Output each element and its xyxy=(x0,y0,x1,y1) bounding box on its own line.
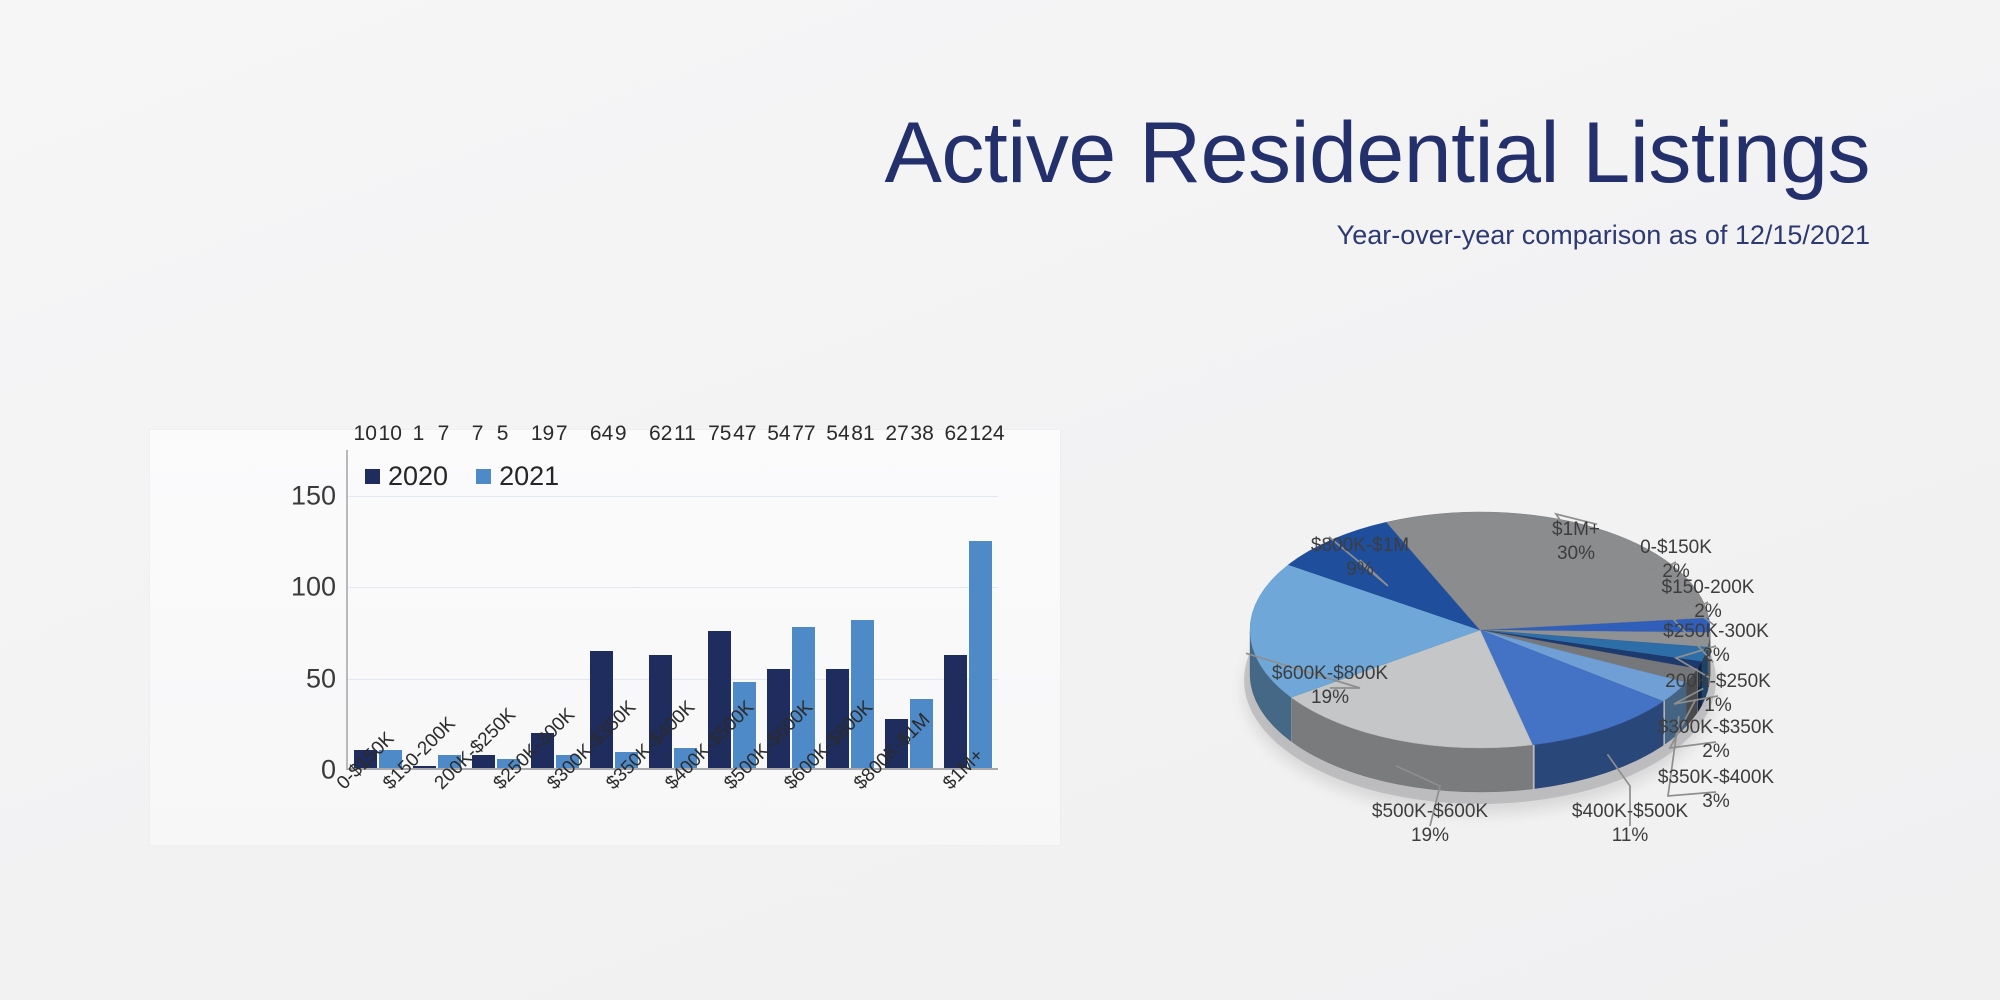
x-axis-label-cell: $1M+ xyxy=(939,775,998,865)
bar-value-label: 7 xyxy=(556,422,568,446)
grouped-bar-chart: 20202021 050100150 101017751976496211754… xyxy=(150,430,1060,845)
pie-slice-callout: $400K-$500K11% xyxy=(1570,800,1690,848)
legend-label: 2020 xyxy=(388,463,448,490)
pie-slice-label: 0-$150K xyxy=(1640,537,1712,558)
pie-slice-callout: $1M+30% xyxy=(1516,518,1636,566)
bar-value-label: 1 xyxy=(413,422,425,446)
bar-value-label: 10 xyxy=(379,422,402,446)
x-axis-label-cell: $150-200K xyxy=(405,775,464,865)
bar-value-label: 27 xyxy=(885,422,908,446)
bar-value-label: 124 xyxy=(969,422,1004,446)
bar-value-label: 9 xyxy=(615,422,627,446)
pie-slice-percent: 11% xyxy=(1570,824,1690,848)
bar-value-label: 54 xyxy=(826,422,849,446)
bar-value-label: 47 xyxy=(733,422,756,446)
pie-chart-3d xyxy=(1110,440,1970,860)
bar-value-label: 7 xyxy=(472,422,484,446)
bar-column: 1 xyxy=(413,450,436,768)
y-axis-tick-label: 50 xyxy=(306,663,336,694)
bar-value-label: 11 xyxy=(674,422,696,446)
bar-2021[interactable]: 124 xyxy=(969,541,992,768)
x-axis-label-cell: $800K-$1M xyxy=(879,775,938,865)
x-axis-labels: 0-$150K$150-200K200K-$250K$250K-300K$300… xyxy=(346,775,998,865)
bar-value-label: 77 xyxy=(792,422,815,446)
pie-slice-label: $300K-$350K xyxy=(1658,717,1774,738)
pie-slice-percent: 30% xyxy=(1516,542,1636,566)
pie-slice-percent: 2% xyxy=(1656,740,1776,764)
pie-slice-callout: $300K-$350K2% xyxy=(1656,716,1776,764)
bar-chart-legend: 20202021 xyxy=(365,463,559,490)
pie-slice-label: $400K-$500K xyxy=(1572,801,1688,822)
page-title: Active Residential Listings xyxy=(0,0,1870,196)
pie-slice-label: $250K-300K xyxy=(1663,621,1769,642)
pie-slice-percent: 19% xyxy=(1270,686,1390,710)
bar-column: 10 xyxy=(379,450,402,768)
pie-slice-label: $600K-$800K xyxy=(1272,663,1388,684)
pie-slice-label: $800K-$1M xyxy=(1311,535,1409,556)
bar-value-label: 54 xyxy=(767,422,790,446)
bar-group: 1010 xyxy=(348,450,407,768)
pie-chart-block: 0-$150K2%$150-200K2%$250K-300K2%200K-$25… xyxy=(1110,440,1970,860)
pie-slice-percent: 9% xyxy=(1300,558,1420,582)
bar-2021[interactable]: 81 xyxy=(851,620,874,768)
bar-value-label: 7 xyxy=(438,422,450,446)
pie-slice-callout: $800K-$1M9% xyxy=(1300,534,1420,582)
bar-column: 124 xyxy=(969,450,992,768)
x-axis-label-cell: 200K-$250K xyxy=(465,775,524,865)
y-axis-tick-label: 100 xyxy=(291,572,336,603)
legend-entry-2021[interactable]: 2021 xyxy=(476,463,559,490)
pie-slice-callout: $600K-$800K19% xyxy=(1270,662,1390,710)
bar-value-label: 19 xyxy=(531,422,554,446)
bar-value-label: 81 xyxy=(851,422,874,446)
legend-swatch-icon xyxy=(476,469,491,484)
bar-group: 62124 xyxy=(939,450,998,768)
bar-value-label: 64 xyxy=(590,422,613,446)
pie-slice-callout: 200K-$250K1% xyxy=(1658,670,1778,718)
y-axis-tick-label: 0 xyxy=(321,755,336,786)
legend-swatch-icon xyxy=(365,469,380,484)
y-axis-tick-label: 150 xyxy=(291,480,336,511)
pie-slice-percent: 2% xyxy=(1656,644,1776,668)
pie-slice-percent: 19% xyxy=(1370,824,1490,848)
page-subtitle: Year-over-year comparison as of 12/15/20… xyxy=(0,196,1870,251)
pie-slice-callout: $500K-$600K19% xyxy=(1370,800,1490,848)
bar-value-label: 62 xyxy=(649,422,672,446)
pie-slice-callout: $150-200K2% xyxy=(1648,576,1768,624)
bar-column: 62 xyxy=(944,450,967,768)
bar-value-label: 62 xyxy=(944,422,967,446)
bar-column: 10 xyxy=(354,450,377,768)
legend-label: 2021 xyxy=(499,463,559,490)
pie-slice-label: $150-200K xyxy=(1662,577,1755,598)
pie-slice-callout: $250K-300K2% xyxy=(1656,620,1776,668)
bar-chart-card: 20202021 050100150 101017751976496211754… xyxy=(150,430,1060,845)
bar-column: 27 xyxy=(885,450,908,768)
pie-slice-label: $500K-$600K xyxy=(1372,801,1488,822)
bar-value-label: 10 xyxy=(354,422,377,446)
pie-slice-label: $350K-$400K xyxy=(1658,767,1774,788)
page-header: Active Residential Listings Year-over-ye… xyxy=(0,0,1870,251)
pie-slice-percent: 1% xyxy=(1658,694,1778,718)
bar-value-label: 38 xyxy=(910,422,933,446)
pie-slice-label: 200K-$250K xyxy=(1665,671,1771,692)
pie-slice-label: $1M+ xyxy=(1552,519,1600,540)
bar-value-label: 5 xyxy=(497,422,509,446)
bar-2020[interactable]: 62 xyxy=(944,655,967,768)
legend-entry-2020[interactable]: 2020 xyxy=(365,463,448,490)
bar-value-label: 75 xyxy=(708,422,731,446)
